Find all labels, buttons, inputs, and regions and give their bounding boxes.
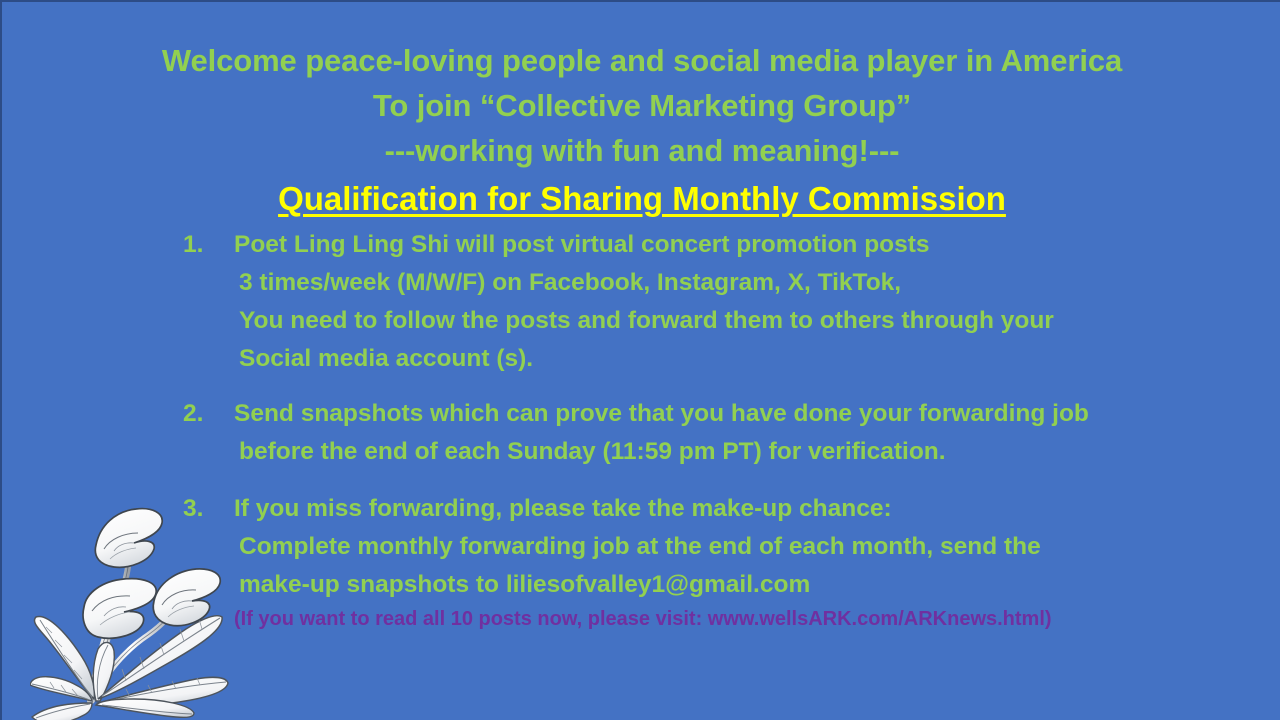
list-spacer — [2, 378, 1280, 395]
list-item-number: 3. — [183, 490, 227, 528]
list-item: 1. Poet Ling Ling Shi will post virtual … — [2, 226, 1280, 378]
list-item: 3. If you miss forwarding, please take t… — [2, 490, 1280, 604]
list-item-line: If you miss forwarding, please take the … — [234, 490, 1280, 528]
headline-line-3: ---working with fun and meaning!--- — [2, 128, 1280, 173]
slide-canvas: Welcome peace-loving people and social m… — [0, 0, 1280, 720]
list-item-line: Complete monthly forwarding job at the e… — [234, 528, 1280, 566]
list-item-line: Social media account (s). — [234, 340, 1280, 378]
list-item-line: Poet Ling Ling Shi will post virtual con… — [234, 226, 1280, 264]
list-item-line: make-up snapshots to liliesofvalley1@gma… — [234, 566, 1280, 604]
headline-block: Welcome peace-loving people and social m… — [2, 38, 1280, 222]
headline-line-2: To join “Collective Marketing Group” — [2, 83, 1280, 128]
website-note: (If you want to read all 10 posts now, p… — [2, 604, 1280, 634]
list-spacer — [2, 471, 1280, 490]
page-title: Qualification for Sharing Monthly Commis… — [2, 176, 1280, 222]
headline-line-1: Welcome peace-loving people and social m… — [2, 38, 1280, 83]
list-item-line: Send snapshots which can prove that you … — [234, 395, 1280, 433]
list-item-number: 2. — [183, 395, 227, 433]
list-item-line: You need to follow the posts and forward… — [234, 302, 1280, 340]
qualification-list: 1. Poet Ling Ling Shi will post virtual … — [2, 226, 1280, 634]
list-item: 2. Send snapshots which can prove that y… — [2, 395, 1280, 471]
list-item-line: 3 times/week (M/W/F) on Facebook, Instag… — [234, 264, 1280, 302]
list-item-number: 1. — [183, 226, 227, 264]
list-item-line: before the end of each Sunday (11:59 pm … — [234, 433, 1280, 471]
